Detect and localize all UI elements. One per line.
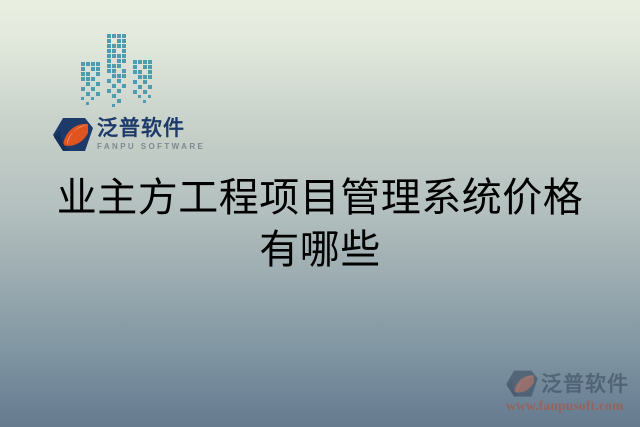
brand-wordmark: 泛普软件 FANPU SOFTWARE — [97, 118, 205, 152]
watermark-url: www.fanpusoft.com — [506, 399, 635, 414]
fanpu-hexagon-logo-icon — [52, 116, 94, 154]
watermark-name-cn: 泛普软件 — [541, 374, 629, 395]
page-title-line-1: 业主方工程项目管理系统价格 — [0, 172, 640, 224]
promo-banner: 泛普软件 FANPU SOFTWARE 业主方工程项目管理系统价格 有哪些 泛普… — [0, 0, 640, 427]
page-title: 业主方工程项目管理系统价格 有哪些 — [0, 172, 640, 276]
page-title-line-2: 有哪些 — [0, 224, 640, 276]
brand-logo: 泛普软件 FANPU SOFTWARE — [52, 113, 205, 157]
watermark: 泛普软件 www.fanpusoft.com — [505, 368, 635, 418]
pixel-buildings-icon — [78, 33, 160, 111]
fanpu-hexagon-logo-icon — [505, 369, 539, 399]
watermark-logo-row: 泛普软件 — [505, 368, 635, 400]
brand-name-cn: 泛普软件 — [97, 118, 205, 140]
brand-name-en: FANPU SOFTWARE — [97, 142, 205, 152]
